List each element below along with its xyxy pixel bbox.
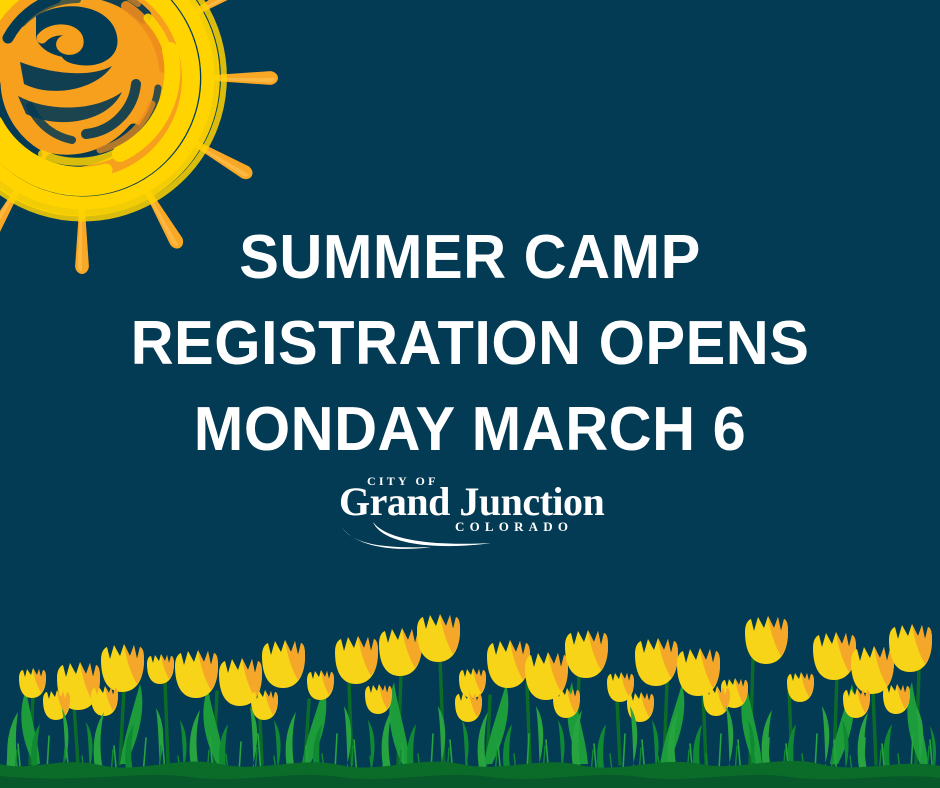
river-swoosh-icon bbox=[339, 516, 499, 552]
tulip-blooms bbox=[19, 614, 932, 722]
grass-blades-bright bbox=[7, 706, 923, 788]
headline-line-3: MONDAY MARCH 6 bbox=[19, 387, 921, 473]
page-title: SUMMER CAMP REGISTRATION OPENS MONDAY MA… bbox=[0, 215, 940, 473]
sun-core bbox=[0, 0, 224, 218]
headline-line-1: SUMMER CAMP bbox=[19, 215, 921, 301]
tulip-stems-back bbox=[30, 658, 919, 764]
poster-canvas: SUMMER CAMP REGISTRATION OPENS MONDAY MA… bbox=[0, 0, 940, 788]
grass-blades-mid bbox=[31, 720, 936, 788]
grass-texture bbox=[6, 732, 934, 788]
city-of-grand-junction-logo: CITY OF Grand Junction COLORADO bbox=[339, 472, 611, 554]
headline-line-2: REGISTRATION OPENS bbox=[19, 301, 921, 387]
grass-sod bbox=[0, 761, 940, 788]
tulip-field-icon bbox=[0, 588, 940, 788]
tulip-leaves bbox=[21, 680, 928, 764]
